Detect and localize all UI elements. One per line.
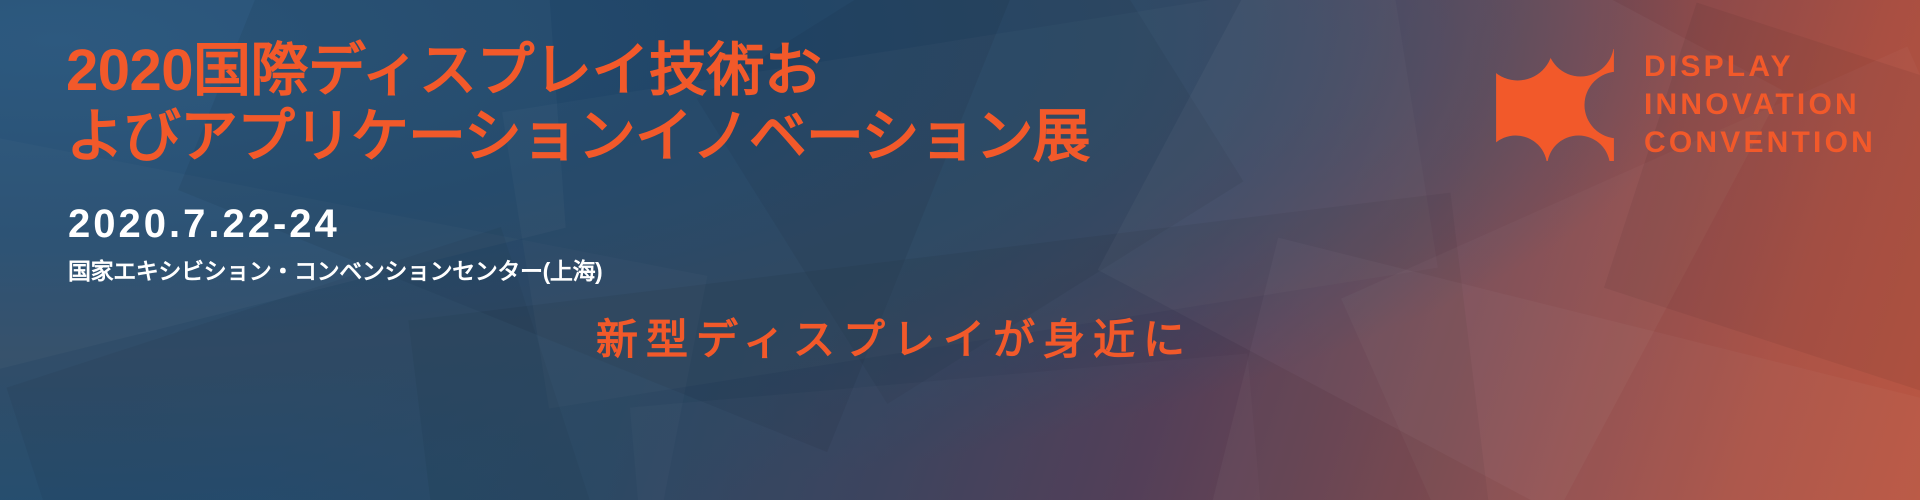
- event-banner: 2020国際ディスプレイ技術お よびアプリケーションイノベーション展 2020.…: [0, 0, 1920, 500]
- logo-word-innovation: INNOVATION: [1644, 86, 1876, 124]
- dic-logo-wordmark: DISPLAY INNOVATION CONVENTION: [1644, 48, 1876, 162]
- event-headline-line-2: よびアプリケーションイノベーション展: [66, 104, 1066, 170]
- event-headline-line-1: 2020国際ディスプレイ技術お: [66, 38, 1066, 104]
- logo-word-display: DISPLAY: [1644, 48, 1876, 86]
- event-venue: 国家エキシビション・コンベンションセンター(上海): [68, 256, 602, 286]
- dic-logo: DISPLAY INNOVATION CONVENTION: [1496, 48, 1876, 162]
- event-date: 2020.7.22-24: [68, 200, 340, 248]
- event-tagline: 新型ディスプレイが身近に: [596, 314, 1193, 366]
- dic-monogram-icon: [1496, 49, 1614, 161]
- banner-text-block: 2020国際ディスプレイ技術お よびアプリケーションイノベーション展 2020.…: [66, 0, 1206, 500]
- logo-word-convention: CONVENTION: [1644, 124, 1876, 162]
- event-headline: 2020国際ディスプレイ技術お よびアプリケーションイノベーション展: [66, 38, 1066, 170]
